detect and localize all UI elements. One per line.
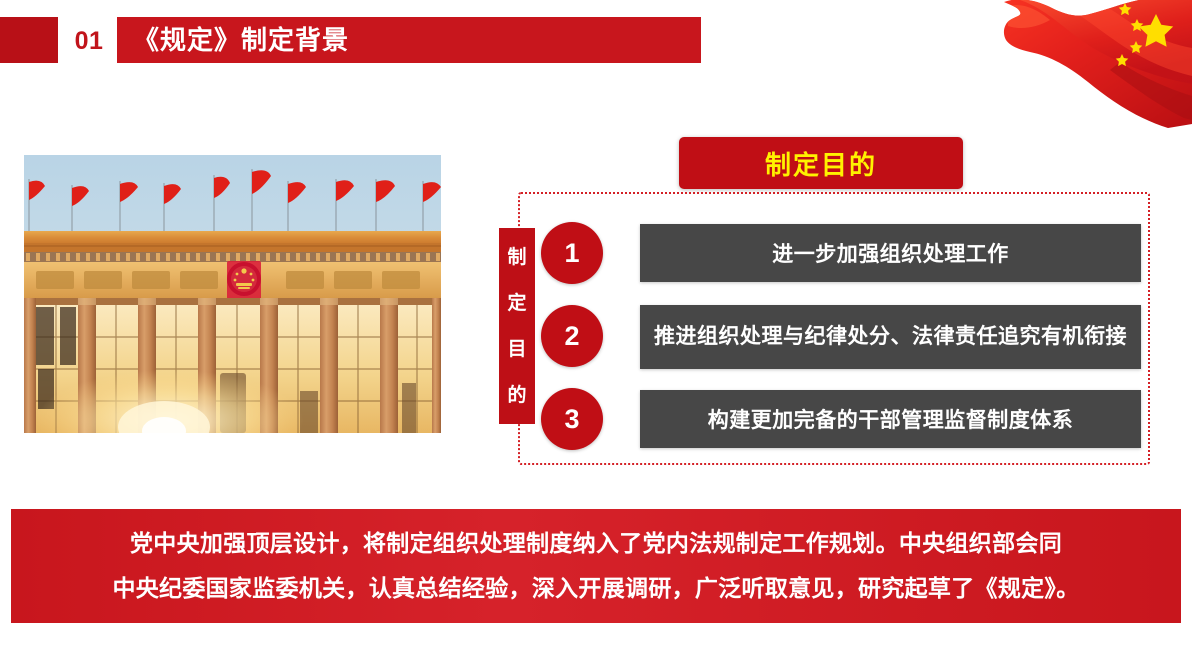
vertical-label-char: 的 — [507, 386, 526, 405]
purpose-item-text-box: 构建更加完备的干部管理监督制度体系 — [640, 390, 1141, 448]
purpose-item-number-badge: 3 — [541, 388, 603, 450]
footer-summary-banner: 党中央加强顶层设计，将制定组织处理制度纳入了党内法规制定工作规划。中央组织部会同… — [11, 509, 1181, 623]
purpose-banner: 制定目的 — [679, 137, 963, 189]
purpose-item-number-badge: 1 — [541, 222, 603, 284]
vertical-label-char: 制 — [507, 248, 526, 267]
vertical-label-char: 目 — [507, 340, 526, 359]
header-section-number: 01 — [63, 22, 115, 60]
vertical-label-char: 定 — [507, 294, 526, 313]
header-accent-block — [0, 17, 58, 63]
purpose-item-text-box: 进一步加强组织处理工作 — [640, 224, 1141, 282]
great-hall-of-the-people-photo — [24, 155, 441, 433]
purpose-item-text-box: 推进组织处理与纪律处分、法律责任追究有机衔接 — [640, 305, 1141, 369]
vertical-label-purpose: 制 定 目 的 — [499, 228, 535, 424]
purpose-item-number-badge: 2 — [541, 305, 603, 367]
china-flag-icon — [960, 0, 1192, 130]
footer-line-1: 党中央加强顶层设计，将制定组织处理制度纳入了党内法规制定工作规划。中央组织部会同 — [130, 521, 1062, 566]
footer-line-2: 中央纪委国家监委机关，认真总结经验，深入开展调研，广泛听取意见，研究起草了《规定… — [112, 566, 1079, 611]
slide-canvas: 01 《规定》制定背景 — [0, 0, 1192, 667]
purpose-banner-label: 制定目的 — [765, 145, 877, 182]
page-title: 《规定》制定背景 — [133, 17, 349, 63]
